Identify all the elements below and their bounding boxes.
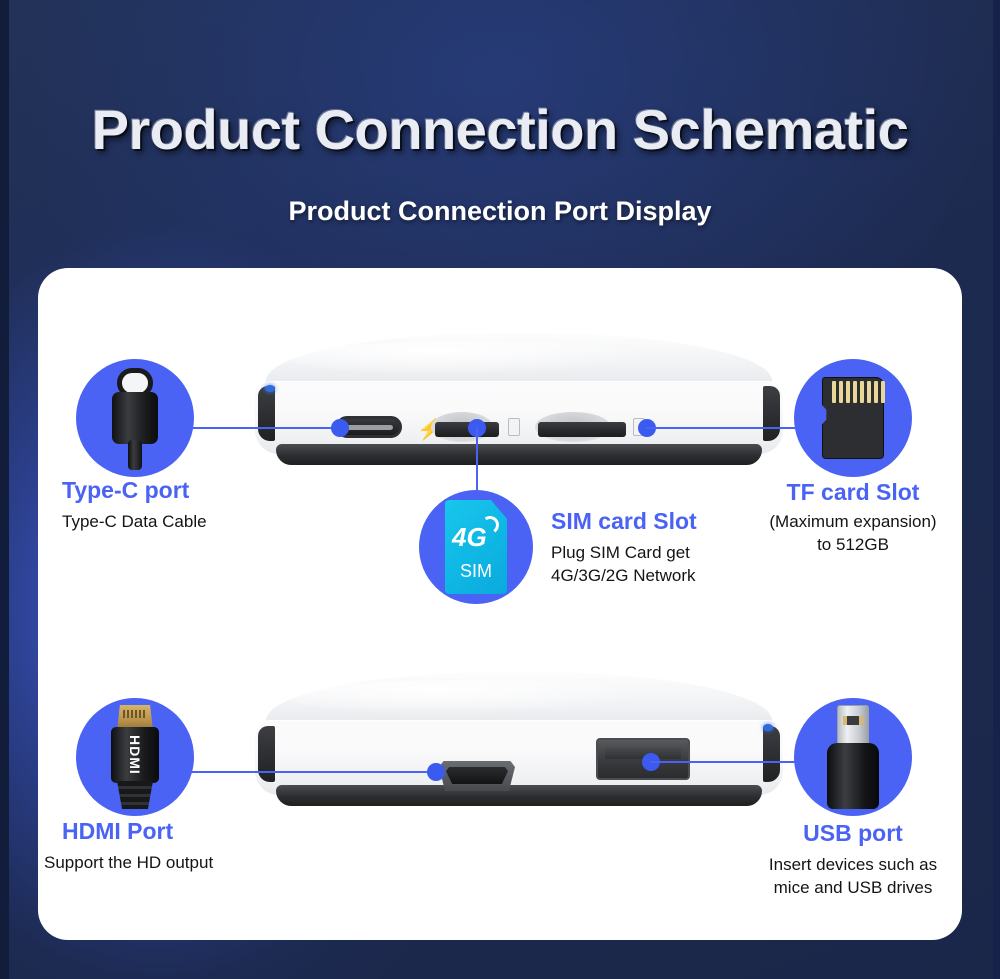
- label-heading-usb: USB port: [738, 820, 968, 847]
- device-bottom-left-vent: [258, 726, 275, 782]
- page-subtitle: Product Connection Port Display: [0, 196, 1000, 227]
- tf-card-slot[interactable]: [538, 422, 626, 437]
- hdmi-text-label: HDMI: [127, 731, 143, 779]
- device-bottom-highlight: [287, 680, 657, 715]
- device-top-left-vent: [258, 386, 275, 441]
- callout-icon-usb: [794, 698, 912, 816]
- device-bottom-right-vent: [763, 726, 780, 782]
- device-top-shell: [255, 333, 783, 465]
- microsd-contact-pins: [832, 381, 885, 403]
- usb-c-connector-icon: [109, 368, 161, 468]
- device-bottom: [255, 672, 783, 806]
- usb-drive-shell: [827, 743, 879, 809]
- device-bottom-base: [276, 785, 762, 806]
- page-title: Product Connection Schematic: [0, 97, 1000, 162]
- label-heading-hdmi: HDMI Port: [62, 818, 173, 845]
- hdmi-port[interactable]: [439, 761, 515, 791]
- callout-icon-hdmi: HDMI: [76, 698, 194, 816]
- device-top-indicator-led: [265, 385, 275, 392]
- device-top: ⚡: [255, 333, 783, 465]
- sim-card-slot[interactable]: [435, 422, 499, 437]
- sim-text-label: SIM: [445, 561, 507, 582]
- device-bottom-indicator-led: [763, 724, 773, 731]
- hdmi-grip: [117, 781, 153, 809]
- device-top-highlight: [287, 341, 657, 375]
- callout-icon-tf: [794, 359, 912, 477]
- sim-card-4g-icon: 4G SIM: [445, 500, 507, 594]
- sim-slot-marker-icon: [508, 418, 520, 436]
- device-bottom-shell: [255, 672, 783, 806]
- device-top-right-vent: [763, 386, 780, 441]
- label-heading-tf: TF card Slot: [738, 479, 968, 506]
- label-desc-hdmi: Support the HD output: [44, 852, 213, 875]
- device-top-base: [276, 444, 762, 465]
- label-heading-typec: Type-C port: [62, 477, 189, 504]
- callout-icon-sim: 4G SIM: [419, 490, 533, 604]
- callout-line-hdmi: [160, 771, 435, 773]
- microsd-card-icon: [822, 377, 884, 459]
- label-desc-usb: Insert devices such as mice and USB driv…: [733, 854, 973, 900]
- label-heading-sim: SIM card Slot: [551, 508, 697, 535]
- usb-c-body: [112, 392, 158, 444]
- usb-flash-drive-icon: [824, 705, 882, 809]
- callout-dot-hdmi: [427, 763, 445, 781]
- label-desc-sim: Plug SIM Card get 4G/3G/2G Network: [551, 542, 696, 588]
- label-desc-typec: Type-C Data Cable: [62, 511, 207, 534]
- callout-icon-typec: [76, 359, 194, 477]
- callout-dot-typec: [331, 419, 349, 437]
- hdmi-connector-icon: HDMI: [109, 705, 161, 809]
- label-desc-tf: (Maximum expansion) to 512GB: [738, 511, 968, 557]
- usb-c-cable: [128, 440, 142, 470]
